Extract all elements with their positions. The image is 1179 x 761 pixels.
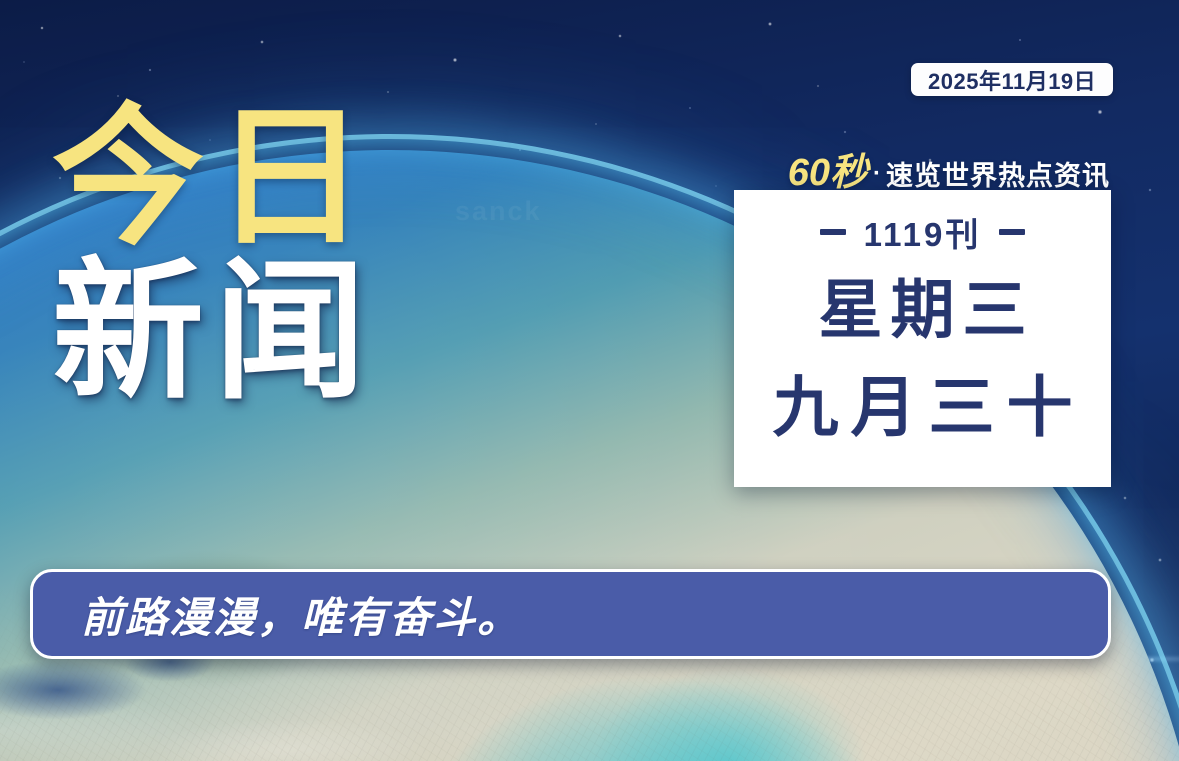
card-weekday: 星期三 (811, 278, 1035, 342)
date-badge: 2025年11月19日 (911, 63, 1113, 96)
quote-bar: 前路漫漫，唯有奋斗。 (30, 569, 1111, 659)
dash-right-icon (999, 229, 1025, 235)
date-card: 1119刊 星期三 九月三十 (734, 190, 1111, 487)
dash-left-icon (820, 229, 846, 235)
date-badge-label: 2025年11月19日 (928, 64, 1096, 96)
title-line-today: 今日 (52, 96, 532, 260)
subtitle-separator-dot: · (873, 160, 881, 188)
news-poster: sanck 今日 新闻 2025年11月19日 60秒 · 速览世界热点资讯 1… (0, 0, 1179, 761)
quote-text: 前路漫漫，唯有奋斗。 (81, 584, 521, 645)
poster-title: 今日 新闻 (52, 96, 532, 414)
card-lunar-date: 九月三十 (761, 374, 1085, 440)
card-issue-row: 1119刊 (820, 208, 1026, 256)
title-line-news: 新闻 (52, 250, 532, 414)
card-issue-label: 1119刊 (864, 208, 982, 256)
subtitle-row: 60秒 · 速览世界热点资讯 (745, 141, 1110, 196)
subtitle-highlight: 60秒 (788, 141, 868, 196)
subtitle-text: 速览世界热点资讯 (886, 154, 1110, 193)
